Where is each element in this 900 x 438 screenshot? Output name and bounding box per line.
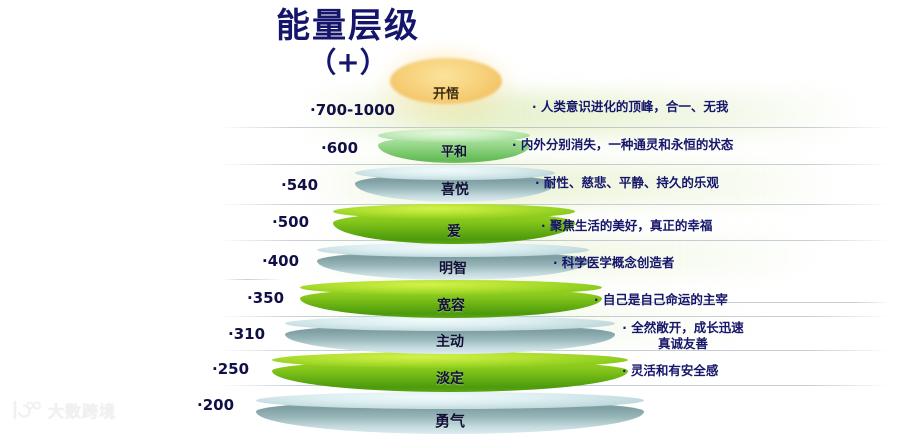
level-desc-willingness: · 全然敞开，成长迅速 真诚友善 (608, 320, 758, 351)
row-separator (218, 127, 890, 128)
bullet-icon: · (541, 219, 546, 233)
level-score-acceptance: ·350 (247, 290, 284, 306)
energy-level-chart: 能量层级 （+） 勇气 淡定 主动 宽容 明智 爱 (0, 0, 900, 438)
level-desc-text-line1: 全然敞开，成长迅速 (631, 320, 744, 335)
bullet-icon: · (532, 100, 537, 114)
page-title: 能量层级 (248, 6, 448, 46)
row-separator-short (222, 279, 284, 280)
level-score-peace: ·600 (321, 140, 358, 156)
level-name-label: 勇气 (256, 410, 644, 431)
level-disc-love[interactable]: 爱 (333, 204, 575, 244)
chart-title-block: 能量层级 （+） (248, 6, 448, 80)
bullet-icon: · (535, 176, 540, 190)
level-disc-neutrality[interactable]: 淡定 (272, 352, 628, 392)
disc-top-face (317, 243, 589, 257)
level-name-label: 开悟 (390, 83, 502, 102)
level-name-label: 主动 (285, 331, 615, 351)
level-name-label: 明智 (317, 258, 589, 278)
level-desc-text: 科学医学概念创造者 (562, 255, 675, 270)
level-desc-reason: · 科学医学概念创造者 (553, 255, 674, 271)
level-desc-text: 自己是自己命运的主宰 (603, 292, 728, 307)
level-name-label: 宽容 (300, 295, 602, 315)
level-desc-love: · 聚焦生活的美好，真正的幸福 (541, 218, 712, 234)
disc-top-face (285, 316, 615, 331)
level-score-neutrality: ·250 (212, 361, 249, 377)
level-name-label: 平和 (378, 141, 530, 160)
level-desc-text: 人类意识进化的顶峰，合一、无我 (541, 99, 729, 114)
level-disc-reason[interactable]: 明智 (317, 243, 589, 280)
bullet-icon: · (553, 256, 558, 270)
level-score-love: ·500 (272, 214, 309, 230)
level-score-courage: ·200 (197, 397, 234, 413)
level-score-enlightenment: ·700-1000 (310, 102, 395, 118)
level-disc-joy[interactable]: 喜悦 (355, 166, 555, 202)
level-desc-enlightenment: · 人类意识进化的顶峰，合一、无我 (532, 99, 728, 115)
level-score-reason: ·400 (262, 253, 299, 269)
disc-top-face (256, 392, 644, 409)
bullet-icon: · (622, 364, 627, 378)
level-name-label: 爱 (333, 221, 575, 241)
level-disc-acceptance[interactable]: 宽容 (300, 280, 602, 318)
level-disc-peace[interactable]: 平和 (378, 129, 530, 163)
level-name-label: 喜悦 (355, 179, 555, 199)
disc-top-face (300, 280, 602, 295)
disc-top-face (333, 204, 575, 219)
level-desc-neutrality: · 灵活和有安全感 (622, 363, 718, 379)
level-desc-peace: · 内外分别消失，一种通灵和永恒的状态 (512, 137, 733, 153)
level-desc-acceptance: · 自己是自己命运的主宰 (594, 292, 728, 308)
level-score-willingness: ·310 (228, 326, 265, 342)
logo-mark-icon (12, 399, 42, 421)
level-disc-willingness[interactable]: 主动 (285, 316, 615, 354)
level-desc-joy: · 耐性、慈悲、平静、持久的乐观 (535, 175, 719, 191)
level-desc-text: 耐性、慈悲、平静、持久的乐观 (544, 175, 719, 190)
bullet-icon: · (594, 293, 599, 307)
disc-top-face (272, 352, 628, 368)
level-name-label: 淡定 (272, 368, 628, 388)
level-score-joy: ·540 (281, 177, 318, 193)
row-separator (218, 164, 890, 165)
bullet-icon: · (622, 321, 627, 335)
level-desc-text-line2: 真诚友善 (608, 336, 758, 351)
level-desc-text: 灵活和有安全感 (631, 363, 719, 378)
level-desc-text: 聚焦生活的美好，真正的幸福 (550, 218, 713, 233)
disc-top-face (355, 166, 555, 180)
watermark-text: 大数跨境 (48, 398, 116, 422)
page-title-sub: （+） (248, 46, 448, 80)
watermark: 大数跨境 (12, 398, 116, 422)
level-disc-courage[interactable]: 勇气 (256, 392, 644, 434)
level-desc-text: 内外分别消失，一种通灵和永恒的状态 (521, 137, 734, 152)
bullet-icon: · (512, 138, 517, 152)
